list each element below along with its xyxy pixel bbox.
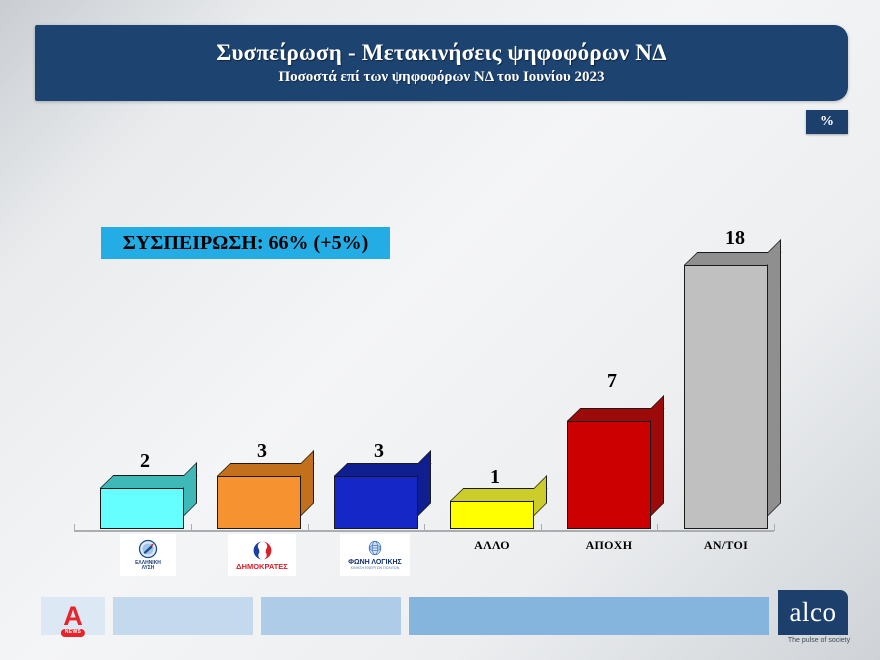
bar-allo: [450, 501, 534, 529]
bar-side-face: [651, 395, 664, 516]
footer-segment: [261, 597, 401, 635]
foni-logikis-emblem-icon: [366, 539, 384, 557]
cohesion-callout: ΣΥΣΠΕΙΡΩΣΗ: 66% (+5%): [101, 227, 390, 259]
bar-front-face: [334, 476, 418, 529]
category-label-apoxi: ΑΠΟΧΗ: [554, 538, 664, 553]
alco-logo: alco: [778, 590, 848, 635]
elliniki-lysi-emblem-icon: [138, 539, 158, 559]
bar-side-face: [768, 239, 781, 516]
bar-front-face: [217, 476, 301, 529]
anews-badge: NEWS: [61, 629, 85, 637]
logo-caption: ΦΩΝΗ ΛΟΓΙΚΗΣ: [348, 559, 402, 566]
title-bar: Συσπείρωση - Μετακινήσεις ψηφοφόρων ΝΔ Π…: [35, 25, 848, 101]
bar-elliniki-lysi: [100, 488, 184, 529]
footer-segment: [113, 597, 253, 635]
axis-tick: [191, 524, 192, 531]
footer-segment: [409, 597, 769, 635]
bar-top-face: [450, 488, 547, 501]
logo-caption: ΔΗΜΟΚΡΑΤΕΣ: [236, 563, 288, 571]
anews-logo: A NEWS: [41, 597, 105, 635]
bar-front-face: [567, 421, 651, 529]
bar-value-label: 3: [232, 440, 292, 463]
axis-tick: [774, 524, 775, 531]
axis-tick: [308, 524, 309, 531]
bar-front-face: [100, 488, 184, 529]
bar-foni-logikis: [334, 476, 418, 529]
category-logo-foni-logikis: ΦΩΝΗ ΛΟΓΙΚΗΣ ΚΙΝΗΣΗ ΕΝΕΡΓΩΝ ΠΟΛΙΤΩΝ: [340, 534, 410, 576]
page-title: Συσπείρωση - Μετακινήσεις ψηφοφόρων ΝΔ: [35, 25, 848, 66]
logo-caption: ΕΛΛΗΝΙΚΗ ΛΥΣΗ: [135, 561, 161, 572]
category-logo-elliniki-lysi: ΕΛΛΗΝΙΚΗ ΛΥΣΗ: [120, 534, 176, 576]
bar-dimokrates: [217, 476, 301, 529]
logo-subcaption: ΚΙΝΗΣΗ ΕΝΕΡΓΩΝ ΠΟΛΙΤΩΝ: [351, 567, 400, 571]
bar-top-face: [334, 463, 431, 476]
bar-top-face: [217, 463, 314, 476]
bar-front-face: [684, 265, 768, 529]
page-subtitle: Ποσοστά επί των ψηφοφόρων ΝΔ του Ιουνίου…: [35, 66, 848, 86]
bar-side-face: [534, 475, 547, 516]
anews-letter: A NEWS: [63, 603, 83, 630]
category-label-allo: ΑΛΛΟ: [437, 538, 547, 553]
x-axis-line: [74, 530, 774, 532]
bar-side-face: [184, 462, 197, 516]
bar-top-face: [100, 475, 197, 488]
unit-badge: %: [806, 110, 848, 134]
category-label-antoi: ΑΝ/ΤΟΙ: [671, 538, 781, 553]
bar-top-face: [567, 408, 664, 421]
category-logo-dimokrates: ΔΗΜΟΚΡΑΤΕΣ: [228, 534, 296, 576]
axis-tick: [74, 524, 75, 531]
axis-tick: [424, 524, 425, 531]
bar-apoxi: [567, 421, 651, 529]
bar-value-label: 7: [582, 370, 642, 393]
axis-tick: [657, 524, 658, 531]
bar-side-face: [418, 450, 431, 516]
bar-side-face: [301, 450, 314, 516]
slide-root: Συσπείρωση - Μετακινήσεις ψηφοφόρων ΝΔ Π…: [0, 0, 880, 660]
bar-front-face: [450, 501, 534, 529]
bar-value-label: 18: [705, 227, 765, 250]
axis-tick: [541, 524, 542, 531]
bar-antoi: [684, 265, 768, 529]
bar-value-label: 3: [349, 440, 409, 463]
dimokrates-emblem-icon: [252, 540, 273, 561]
bar-top-face: [684, 252, 781, 265]
alco-tagline: The pulse of society: [778, 637, 860, 644]
bar-value-label: 1: [465, 466, 525, 489]
bar-value-label: 2: [115, 450, 175, 473]
alco-name: alco: [790, 599, 837, 626]
